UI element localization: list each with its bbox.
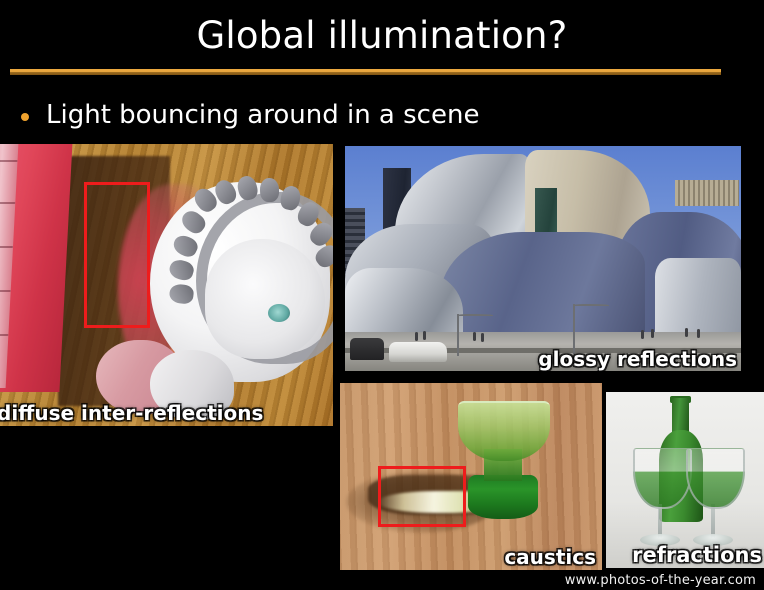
figure-caption-refractions: refractions bbox=[632, 544, 762, 566]
bullet-dot-icon bbox=[21, 113, 29, 121]
bullet-list-item: Light bouncing around in a scene bbox=[16, 100, 716, 136]
figure-refractions: refractions bbox=[606, 392, 764, 568]
figure-caption-diffuse: diffuse inter-reflections bbox=[0, 403, 263, 424]
figure-glossy-reflections: glossy reflections bbox=[345, 146, 741, 371]
title-divider-rule bbox=[10, 69, 721, 75]
slide-title: Global illumination? bbox=[0, 14, 764, 57]
white-car bbox=[389, 342, 447, 362]
figure-caption-glossy: glossy reflections bbox=[538, 349, 737, 370]
wine-glass-right bbox=[686, 448, 745, 509]
figurine-head bbox=[205, 239, 325, 359]
glass-base bbox=[468, 475, 538, 519]
figure-caustics: caustics bbox=[340, 383, 602, 570]
figure-caption-caustics: caustics bbox=[504, 547, 596, 568]
book-pages bbox=[0, 144, 19, 388]
wine-glass-stem-left bbox=[658, 504, 662, 538]
bullet-item-label: Light bouncing around in a scene bbox=[46, 100, 479, 130]
source-credit-footer: www.photos-of-the-year.com bbox=[565, 573, 756, 588]
annotation-rectangle-caustics bbox=[378, 466, 466, 527]
distant-office-block bbox=[675, 180, 739, 206]
annotation-rectangle-diffuse bbox=[84, 182, 150, 328]
figure-diffuse-inter-reflections: diffuse inter-reflections bbox=[0, 144, 333, 426]
wine-glass-stem-right bbox=[711, 504, 715, 538]
slide: Global illumination? Light bouncing arou… bbox=[0, 0, 764, 590]
dark-vehicle bbox=[350, 338, 384, 360]
figurine-eye bbox=[268, 304, 290, 322]
